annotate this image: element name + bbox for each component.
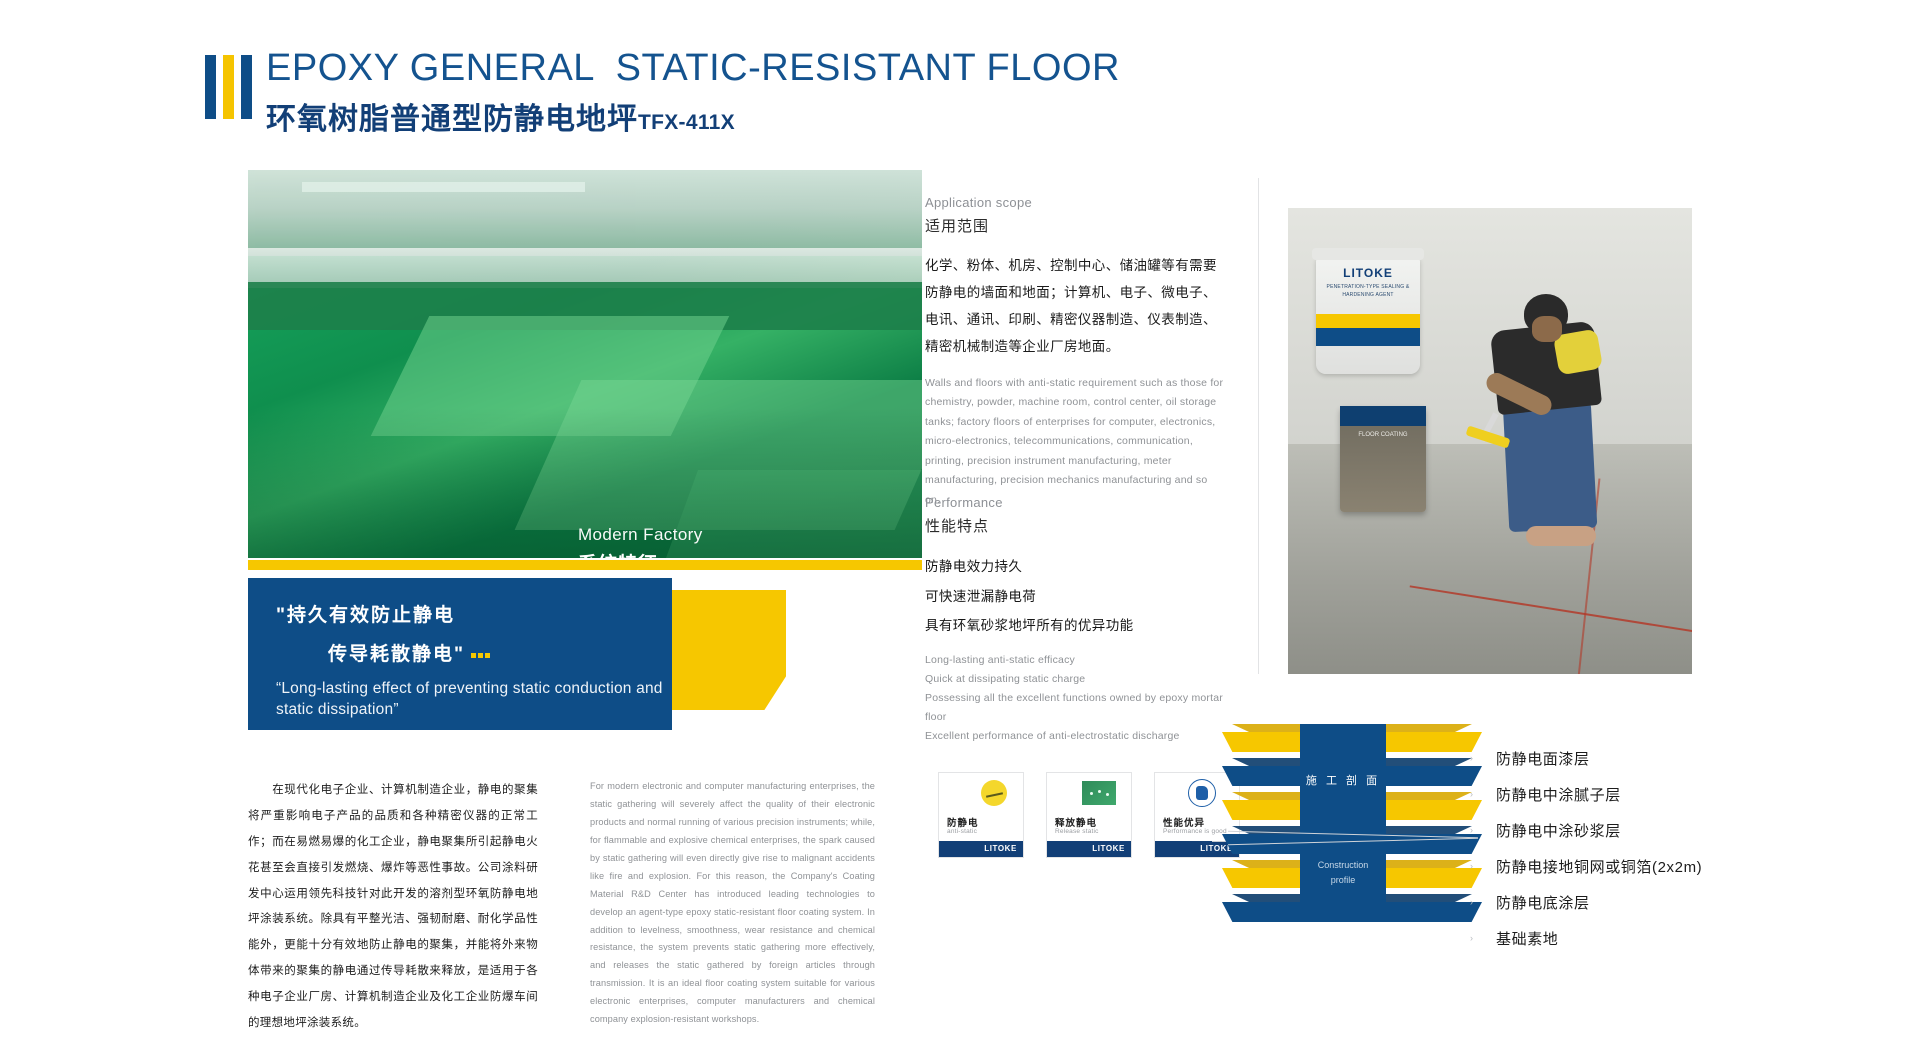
brochure-page: EPOXY GENERAL STATIC-RESISTANT FLOOR 环氧树… [0,0,1920,1002]
card-footer-1: LITOKE [939,841,1023,857]
mixing-drum: FLOOR COATING [1340,406,1426,512]
legend-row-2: ›防静电中涂腻子层 [1470,776,1890,812]
feature-card-anti-static[interactable]: 防静电 anti-static LITOKE [938,772,1024,858]
legend-row-3: ›防静电中涂砂浆层 [1470,812,1890,848]
worker-face [1532,316,1562,342]
page-header: EPOXY GENERAL STATIC-RESISTANT FLOOR 环氧树… [205,48,1120,138]
bucket-subtitle: PENETRATION-TYPE SEALING & HARDENING AGE… [1316,284,1420,299]
feature-cards: 防静电 anti-static LITOKE 释放静电 Release stat… [938,772,1240,858]
quote-english: “Long-lasting effect of preventing stati… [276,678,672,720]
legend-label-1: 防静电面漆层 [1496,748,1590,769]
application-scope-section: Application scope 适用范围 化学、粉体、机房、控制中心、储油罐… [925,195,1225,510]
performance-item-cn-2: 可快速泄漏静电荷 [925,582,1225,612]
legend-label-5: 防静电底涂层 [1496,892,1590,913]
quote-chinese-line-2-wrap: 传导耗散静电" [328,639,672,666]
legend-label-4: 防静电接地铜网或铜箔(2x2m) [1496,856,1702,877]
card-title-en-3: Performance is good [1163,828,1227,835]
bucket-brand-label: LITOKE [1316,266,1420,280]
performance-items-chinese: 防静电效力持久 可快速泄漏静电荷 具有环氧砂浆地坪所有的优异功能 [925,552,1225,641]
drum-label: FLOOR COATING [1340,432,1426,438]
accent-bar-yellow [223,55,234,119]
legend-label-2: 防静电中涂腻子层 [1496,784,1621,805]
copper-mesh-icon [1228,832,1478,846]
card-title-cn-3: 性能优异 [1163,815,1205,829]
worker-application-photo: LITOKE PENETRATION-TYPE SEALING & HARDEN… [1288,208,1692,674]
card-artwork-2 [1047,773,1131,813]
card-artwork-1 [939,773,1023,813]
vertical-divider [1258,178,1259,674]
product-bucket: LITOKE PENETRATION-TYPE SEALING & HARDEN… [1316,256,1420,374]
legend-tick-icon-4: › [1470,861,1496,871]
performance-label-chinese: 性能特点 [925,515,1225,536]
profile-center-column: 施 工 剖 面 Construction profile [1300,724,1386,922]
feature-card-release-static[interactable]: 释放静电 Release static LITOKE [1046,772,1132,858]
profile-center-label-chinese: 施 工 剖 面 [1300,772,1386,788]
card-title-en-2: Release static [1055,828,1099,835]
legend-label-3: 防静电中涂砂浆层 [1496,820,1621,841]
worker-legs [1503,398,1598,532]
performance-items-english: Long-lasting anti-static efficacy Quick … [925,651,1225,745]
drum-rim [1340,406,1426,426]
profile-center-en-2: profile [1300,873,1386,888]
legend-tick-icon-5: › [1470,897,1496,907]
performance-item-cn-3: 具有环氧砂浆地坪所有的优异功能 [925,611,1225,641]
construction-profile-diagram: 施 工 剖 面 Construction profile [1222,732,1492,922]
legend-row-5: ›防静电底涂层 [1470,884,1890,920]
application-body-english: Walls and floors with anti-static requir… [925,374,1225,510]
photo-ceiling [248,170,922,256]
hero-factory-photo: Modern Factory 系统特征 防静电、实色、镜面光亮 厚度1～5mm … [248,170,922,558]
profile-legend: ›防静电面漆层 ›防静电中涂腻子层 ›防静电中涂砂浆层 ›防静电接地铜网或铜箔(… [1470,740,1890,956]
profile-center-label-english: Construction profile [1300,858,1386,889]
description-paragraph-chinese: 在现代化电子企业、计算机制造企业，静电的聚集将严重影响电子产品的品质和各种精密仪… [248,778,538,1037]
profile-center-en-1: Construction [1300,858,1386,873]
card-brand-2: LITOKE [1092,844,1125,853]
application-label-chinese: 适用范围 [925,215,1225,236]
quote-block: "持久有效防止静电 传导耗散静电" “Long-lasting effect o… [248,578,672,730]
quote-chinese-line-2: 传导耗散静电" [328,644,465,665]
hero-yellow-divider [248,560,922,570]
header-titles: EPOXY GENERAL STATIC-RESISTANT FLOOR 环氧树… [266,48,1120,138]
bucket-yellow-band [1316,314,1420,328]
card-title-en-1: anti-static [947,828,977,835]
worker-foot [1526,526,1596,546]
legend-tick-icon-1: › [1470,753,1496,763]
performance-item-en-1: Long-lasting anti-static efficacy [925,651,1225,670]
bucket-lid [1312,248,1424,260]
card-brand-1: LITOKE [984,844,1017,853]
legend-row-1: ›防静电面漆层 [1470,740,1890,776]
legend-row-4: ›防静电接地铜网或铜箔(2x2m) [1470,848,1890,884]
application-label-english: Application scope [925,195,1225,210]
performance-label-english: Performance [925,495,1225,510]
page-title-chinese: 环氧树脂普通型防静电地坪 [266,94,638,138]
thumbs-up-icon [1188,779,1216,807]
application-body-chinese: 化学、粉体、机房、控制中心、储油罐等有需要防静电的墙面和地面；计算机、电子、微电… [925,252,1225,360]
header-accent-bars [205,48,252,119]
description-paragraph-english: For modern electronic and computer manuf… [590,778,875,1029]
card-title-cn-2: 释放静电 [1055,815,1097,829]
performance-item-en-3: Possessing all the excellent functions o… [925,689,1225,727]
performance-item-cn-1: 防静电效力持久 [925,552,1225,582]
quote-chinese-line-1: "持久有效防止静电 [276,600,672,627]
hero-heading-english: Modern Factory [578,525,864,545]
legend-tick-icon-2: › [1470,789,1496,799]
smiley-face-icon [981,780,1007,806]
product-model-code: TFX-411X [638,111,735,135]
legend-row-6: ›基础素地 [1470,920,1890,956]
legend-label-6: 基础素地 [1496,928,1558,949]
performance-item-en-4: Excellent performance of anti-electrosta… [925,727,1225,746]
accent-bar-blue-2 [241,55,252,119]
performance-item-en-2: Quick at dissipating static charge [925,670,1225,689]
hero-overlay-text: Modern Factory 系统特征 防静电、实色、镜面光亮 厚度1～5mm … [578,525,864,558]
green-panel-icon [1082,781,1116,805]
card-footer-2: LITOKE [1047,841,1131,857]
page-title-english: EPOXY GENERAL STATIC-RESISTANT FLOOR [266,48,1120,88]
performance-section: Performance 性能特点 防静电效力持久 可快速泄漏静电荷 具有环氧砂浆… [925,495,1225,746]
bucket-blue-band [1316,328,1420,346]
accent-bar-blue-1 [205,55,216,119]
card-title-cn-1: 防静电 [947,815,979,829]
quote-dots-icon [469,644,490,666]
legend-tick-icon-6: › [1470,933,1496,943]
page-title-chinese-row: 环氧树脂普通型防静电地坪 TFX-411X [266,94,1120,138]
hero-heading-chinese: 系统特征 [578,549,864,558]
